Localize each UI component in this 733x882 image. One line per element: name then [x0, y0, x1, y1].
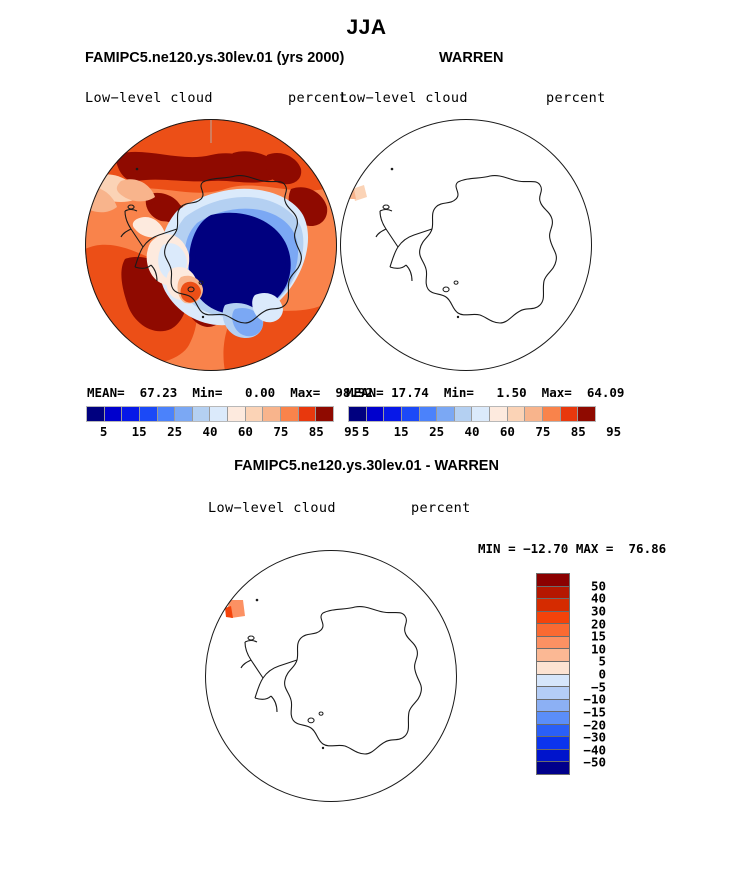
- diff-panel-title: FAMIPC5.ne120.ys.30lev.01 - WARREN: [0, 458, 733, 474]
- model-map[interactable]: [85, 119, 337, 371]
- obs-map[interactable]: [340, 119, 592, 371]
- model-colorbar-swatches: [86, 406, 334, 422]
- obs-stats: MEAN= 17.74 Min= 1.50 Max= 64.09: [346, 385, 624, 400]
- obs-colorbar[interactable]: 5 15 25 40 60 75 85 95: [348, 406, 596, 440]
- model-panel-title: FAMIPC5.ne120.ys.30lev.01 (yrs 2000): [85, 50, 344, 66]
- obs-map-field: [340, 119, 592, 371]
- diff-colorbar-swatches: [536, 573, 570, 775]
- obs-units-label: percent: [546, 90, 606, 106]
- obs-variable-label: Low−level cloud: [340, 90, 468, 106]
- obs-colorbar-swatches: [348, 406, 596, 422]
- model-colorbar-ticks: 5 15 25 40 60 75 85 95: [86, 422, 334, 440]
- diff-map[interactable]: [205, 550, 457, 802]
- diff-colorbar[interactable]: 50 40 30 20 15 10 5 0 −5 −10 −15 −20 −30…: [536, 573, 646, 775]
- diff-variable-label: Low−level cloud: [208, 500, 336, 516]
- diff-colorbar-ticks: 50 40 30 20 15 10 5 0 −5 −10 −15 −20 −30…: [576, 573, 636, 775]
- diff-stats: MIN = −12.70 MAX = 76.86: [478, 541, 666, 556]
- model-units-label: percent: [288, 90, 348, 106]
- model-colorbar[interactable]: 5 15 25 40 60 75 85 95: [86, 406, 334, 440]
- diff-map-field: [205, 550, 457, 802]
- obs-panel-title: WARREN: [439, 50, 503, 66]
- model-variable-label: Low−level cloud: [85, 90, 213, 106]
- diff-units-label: percent: [411, 500, 471, 516]
- obs-colorbar-ticks: 5 15 25 40 60 75 85 95: [348, 422, 596, 440]
- page-title: JJA: [0, 16, 733, 40]
- model-map-field: [85, 119, 337, 371]
- model-stats: MEAN= 67.23 Min= 0.00 Max= 98.92: [87, 385, 373, 400]
